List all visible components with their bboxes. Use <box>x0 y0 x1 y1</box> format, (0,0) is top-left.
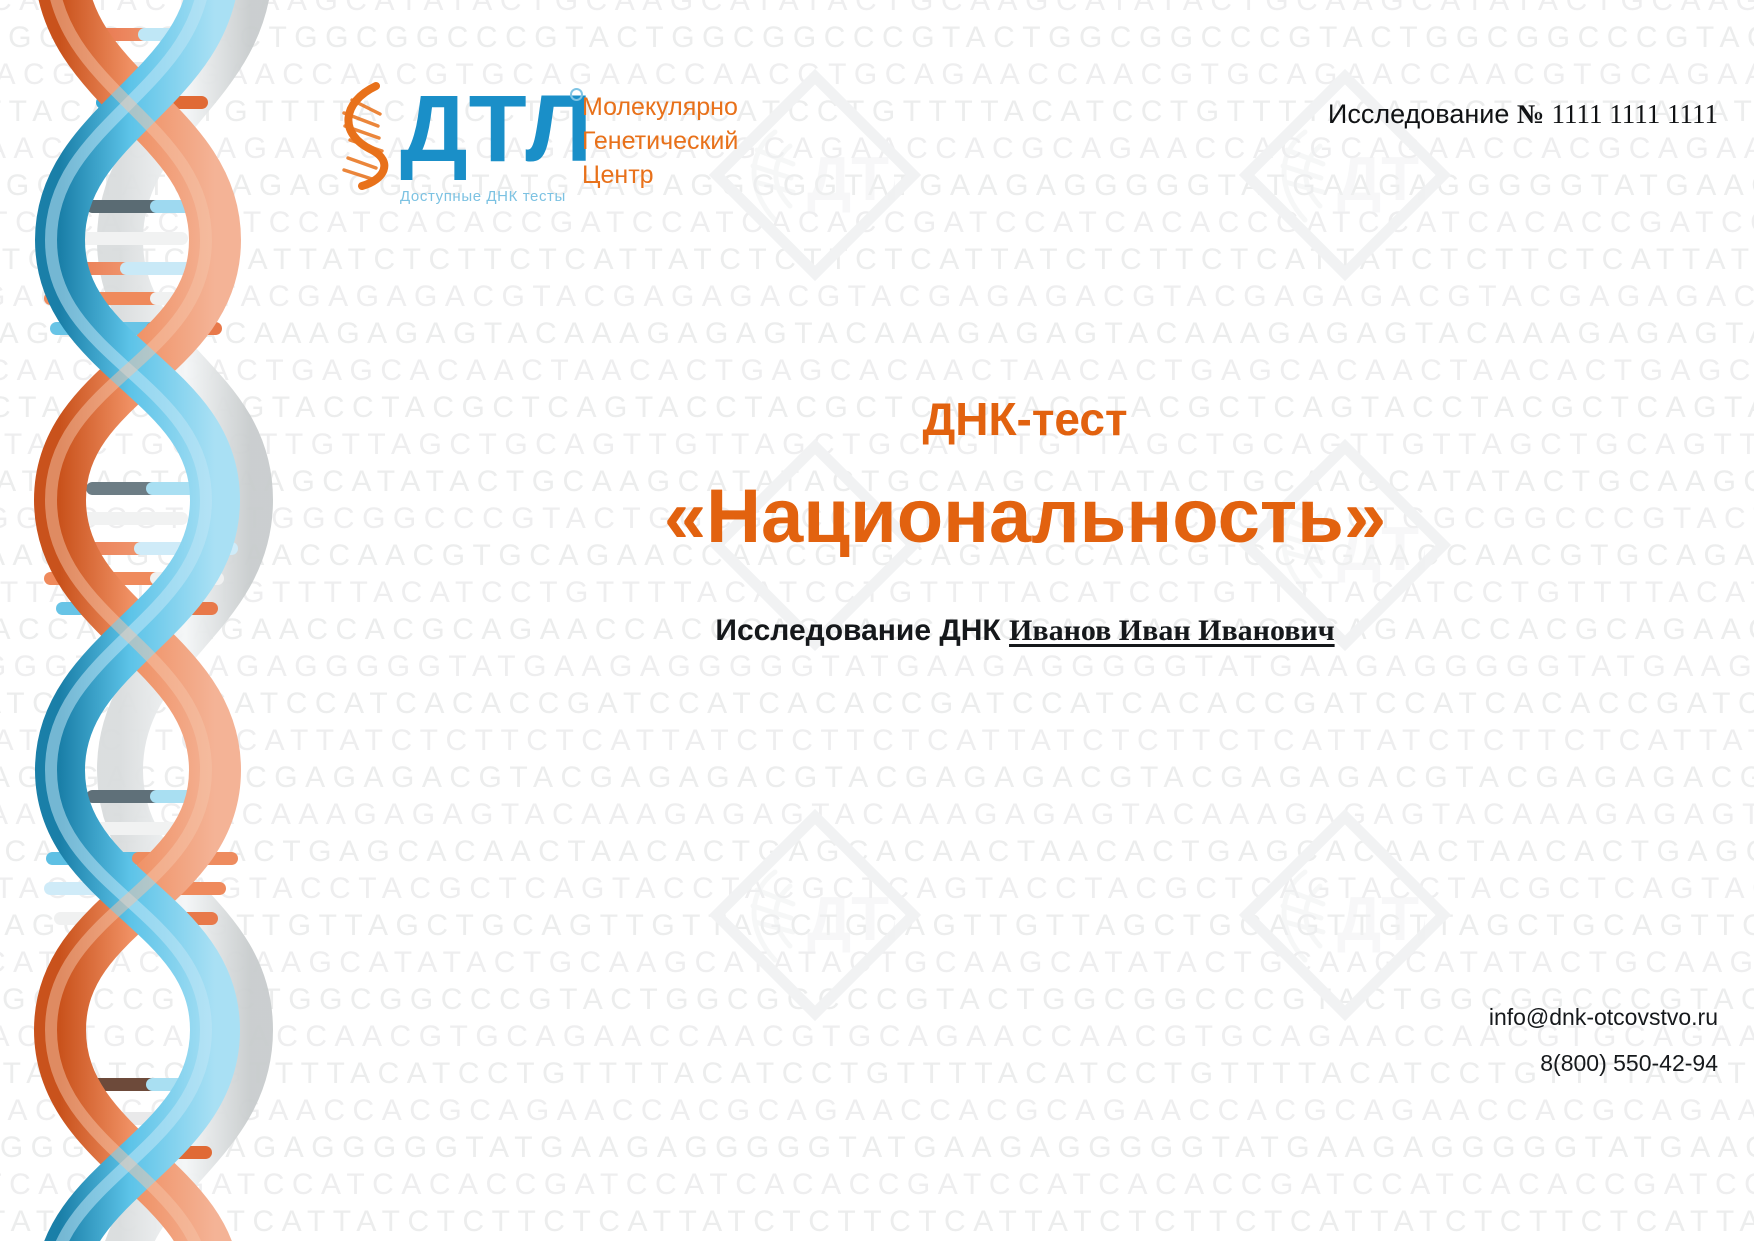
contact-block: info@dnk-otcovstvo.ru 8(800) 550-42-94 <box>1489 1002 1718 1078</box>
logo-watermark: ДТЛ <box>1265 120 1425 240</box>
dna-helix-illustration <box>0 0 296 1241</box>
logo-word-line3: Центр <box>582 158 738 192</box>
title-block: ДНК-тест «Национальность» Исследование Д… <box>296 392 1754 650</box>
logo-wordmark: Молекулярно Генетический Центр <box>582 90 738 192</box>
contact-email[interactable]: info@dnk-otcovstvo.ru <box>1489 1002 1718 1032</box>
logo-letters: ДТЛ <box>400 82 593 177</box>
test-kicker: ДНК-тест <box>296 392 1754 446</box>
subject-name: Иванов Иван Иванович <box>1009 614 1335 647</box>
logo-watermark: ДТЛ <box>1265 860 1425 980</box>
logo-watermark: ДТЛ <box>735 120 895 240</box>
page-title: «Национальность» <box>296 474 1754 560</box>
svg-text:ДТЛ: ДТЛ <box>807 145 895 214</box>
logo-watermark: ДТЛ <box>735 860 895 980</box>
logo-tagline: Доступные ДНК тесты <box>400 188 566 205</box>
subject-line: Исследование ДНК Иванов Иван Иванович <box>296 612 1754 650</box>
report-cover-page: CATATACTGCAAGCATATACTGCAAGCATATACTGCAAGC… <box>0 0 1754 1241</box>
svg-text:ДТЛ: ДТЛ <box>1337 145 1425 214</box>
logo-word-line1: Молекулярно <box>582 90 738 124</box>
numero-sign: № <box>1517 99 1544 129</box>
study-number-value: 1111 1111 1111 <box>1552 99 1718 129</box>
study-number: Исследование № 1111 1111 1111 <box>1328 99 1718 130</box>
subject-prefix: Исследование ДНК <box>715 614 1009 647</box>
svg-text:ДТЛ: ДТЛ <box>1337 885 1425 954</box>
study-number-label: Исследование <box>1328 99 1509 129</box>
dna-helix-icon <box>332 80 398 192</box>
company-logo[interactable]: ДТЛ Молекулярно Генетический Центр Досту… <box>332 78 752 206</box>
svg-text:ДТЛ: ДТЛ <box>807 885 895 954</box>
contact-phone[interactable]: 8(800) 550-42-94 <box>1489 1048 1718 1078</box>
logo-word-line2: Генетический <box>582 124 738 158</box>
